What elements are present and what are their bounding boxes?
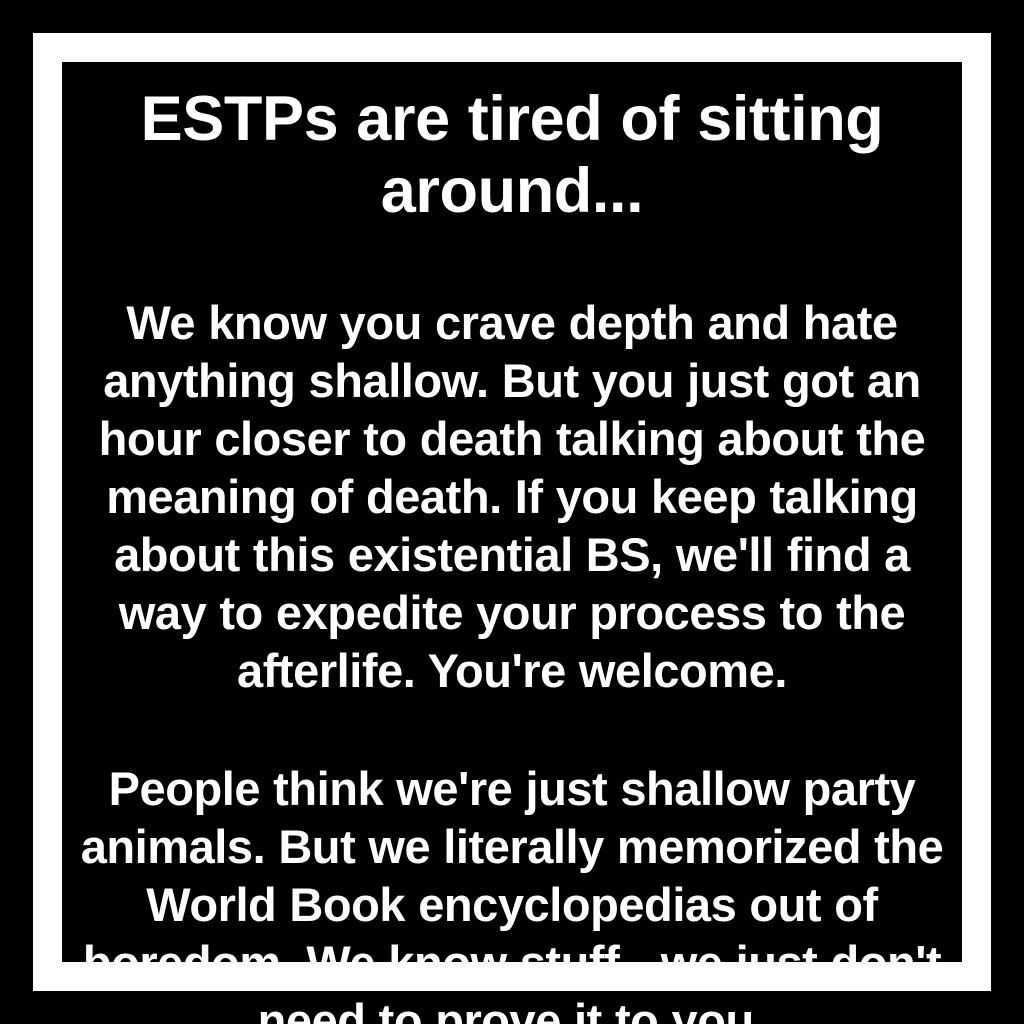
poster-paragraph-1: We know you crave depth and hate anythin… xyxy=(70,294,954,700)
white-border-frame: ESTPs are tired of sitting around... We … xyxy=(33,33,991,991)
spacer-title-body xyxy=(70,228,954,294)
black-content-panel: ESTPs are tired of sitting around... We … xyxy=(62,62,962,962)
spacer-between-paragraphs xyxy=(70,700,954,760)
text-content-block: ESTPs are tired of sitting around... We … xyxy=(70,84,954,1024)
meme-poster: ESTPs are tired of sitting around... We … xyxy=(0,0,1024,1024)
poster-title: ESTPs are tired of sitting around... xyxy=(70,84,954,228)
poster-paragraph-2: People think we're just shallow party an… xyxy=(70,760,954,1024)
